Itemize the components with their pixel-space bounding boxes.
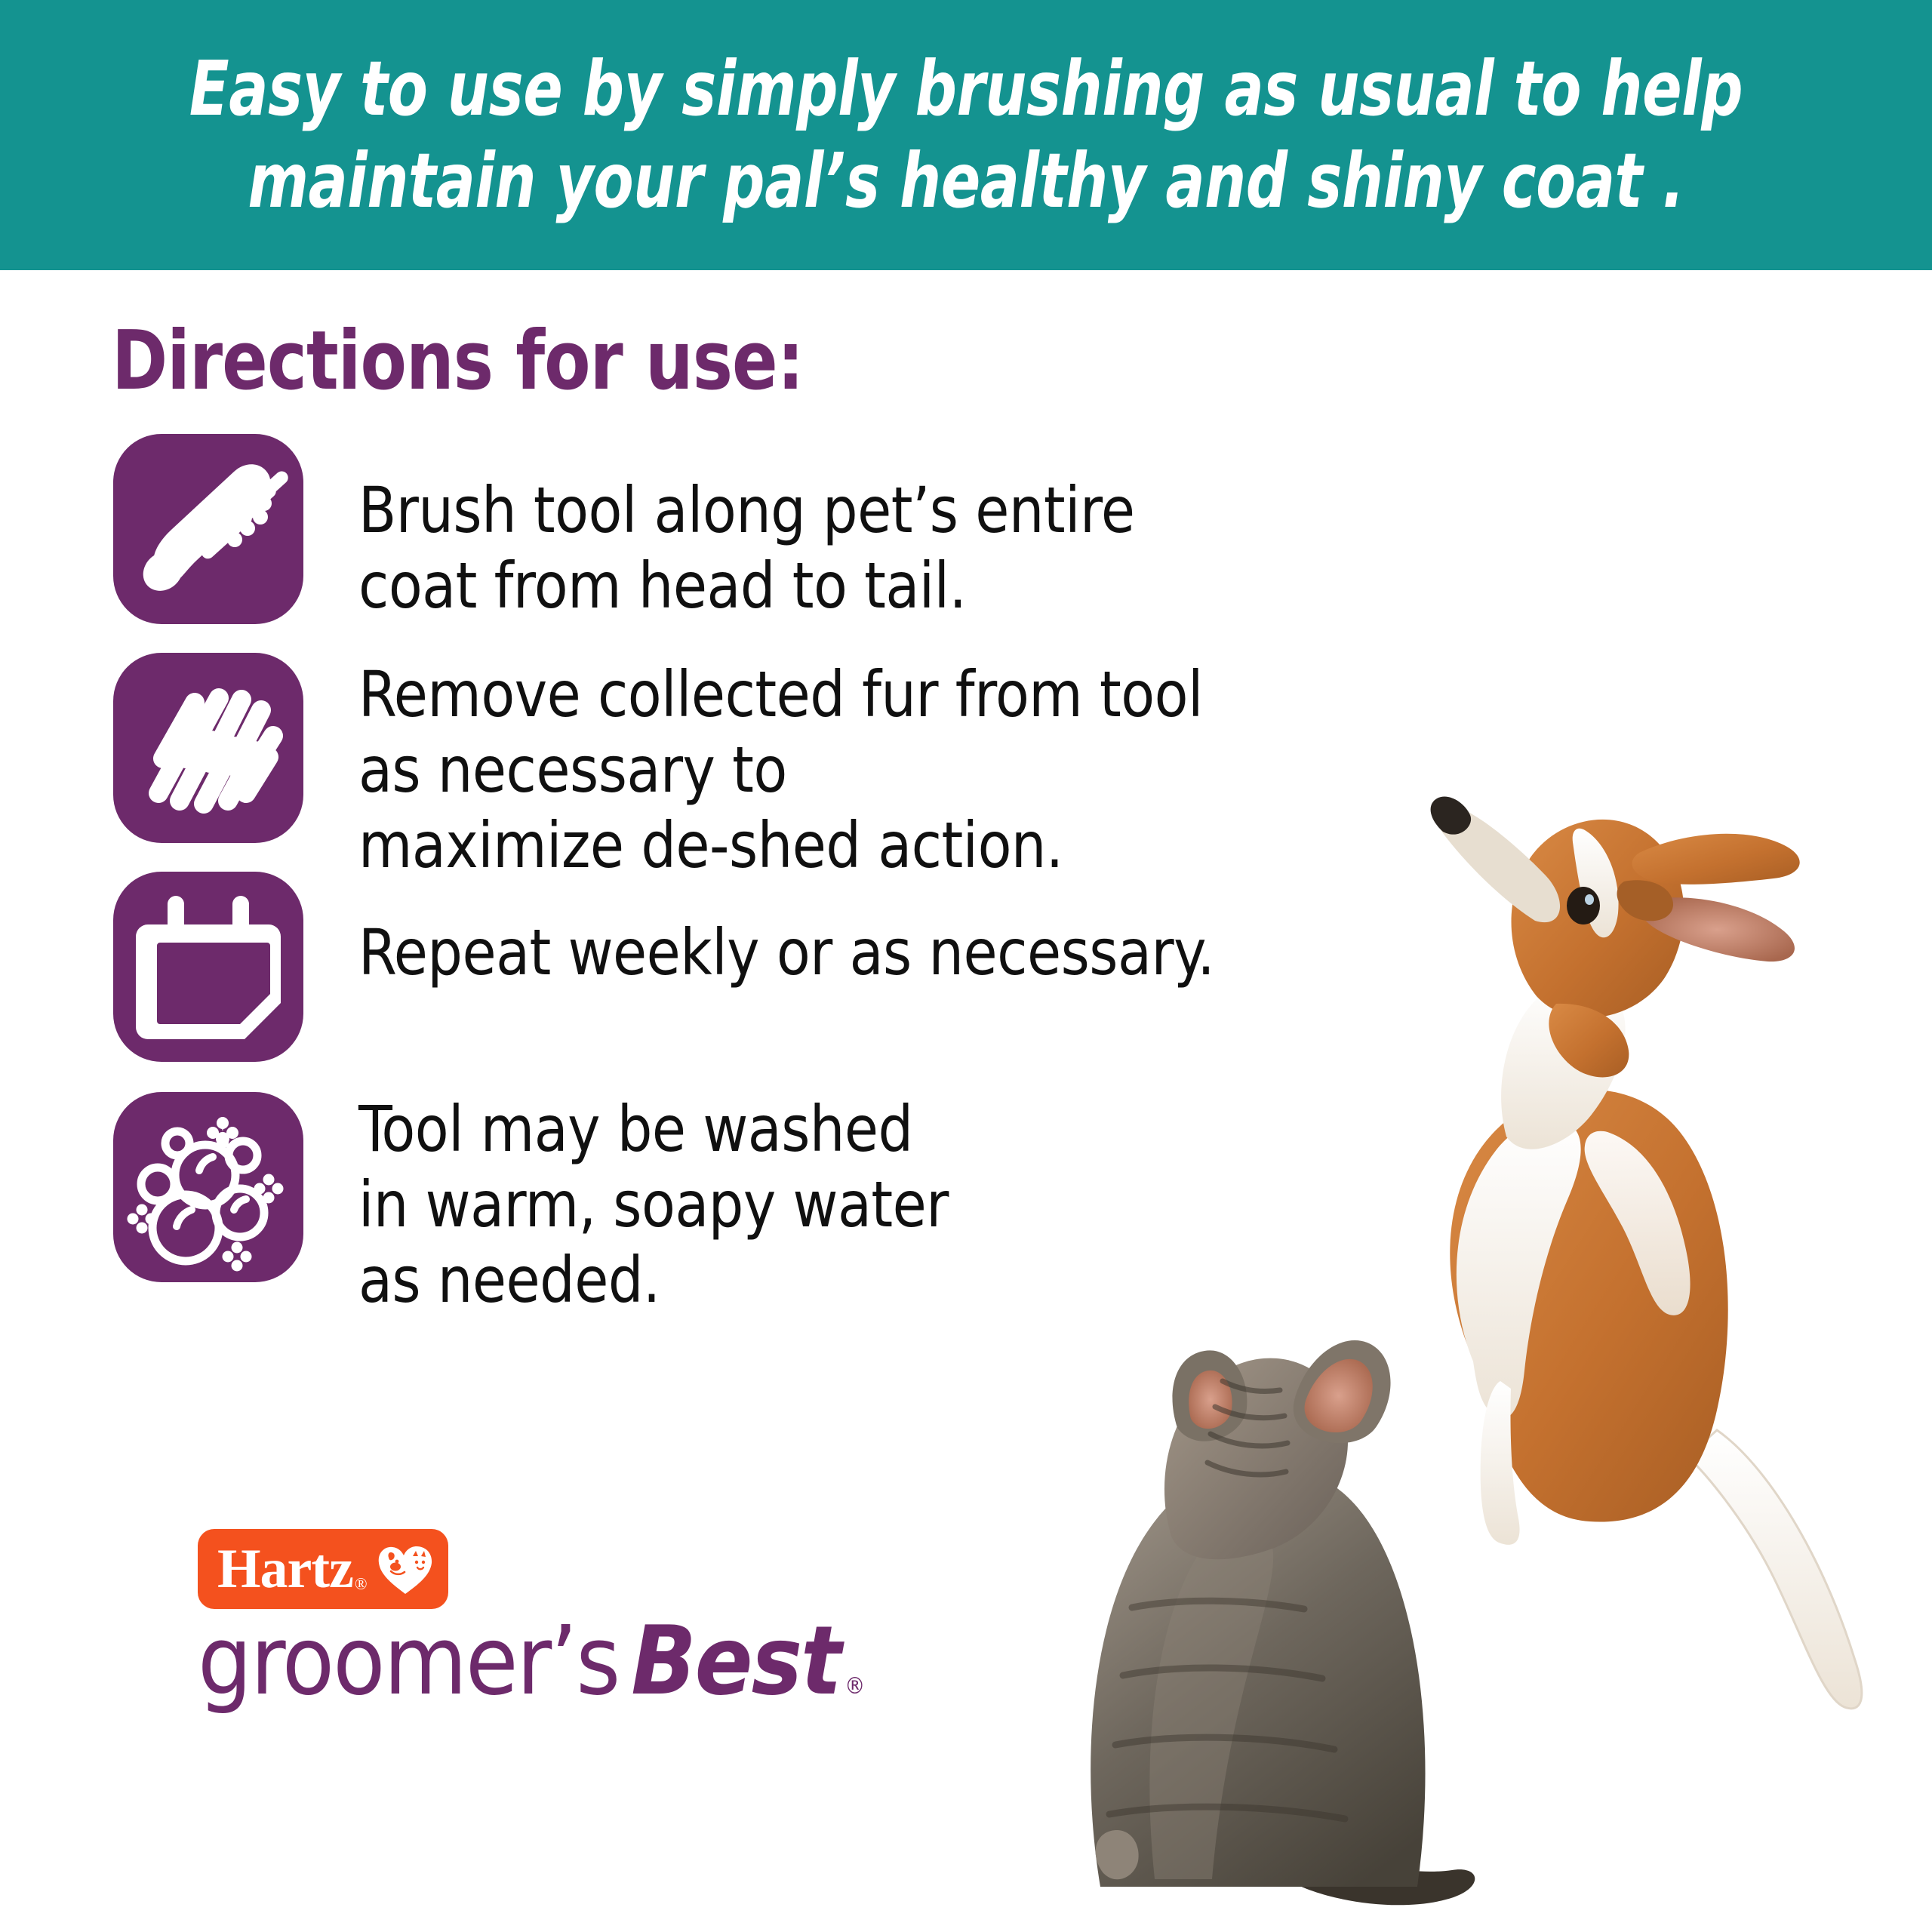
calendar-icon	[113, 872, 303, 1062]
brand-lockup: Hartz ®	[198, 1529, 865, 1709]
list-item: Repeat weekly or as necessary.	[0, 872, 1241, 1062]
dog-figure	[1431, 796, 1862, 1708]
list-item: Tool may be washed in warm, soapy water …	[0, 1092, 967, 1318]
soap-bubbles-icon	[113, 1092, 303, 1282]
page-title: Directions for use:	[112, 321, 804, 402]
list-item-label: Repeat weekly or as necessary.	[358, 872, 1214, 991]
header-headline: Easy to use by simply brushing as usual …	[148, 43, 1783, 227]
cat-figure	[1091, 1340, 1475, 1905]
list-item: Brush tool along pet’s entire coat from …	[0, 434, 1283, 624]
best-word: Best	[631, 1614, 840, 1709]
hartz-wordmark: Hartz	[217, 1541, 353, 1597]
groomers-best-wordmark: groomer’s Best ®	[198, 1614, 865, 1709]
list-item-label: Tool may be washed in warm, soapy water …	[358, 1092, 949, 1318]
list-item-label: Remove collected fur from tool as necess…	[358, 653, 1255, 884]
fur-strands-icon	[113, 653, 303, 843]
list-item: Remove collected fur from tool as necess…	[0, 653, 1283, 884]
infographic-page: Easy to use by simply brushing as usual …	[0, 0, 1932, 1932]
dog-cat-heart-icon	[376, 1541, 435, 1597]
header-banner: Easy to use by simply brushing as usual …	[0, 0, 1932, 270]
brush-icon	[113, 434, 303, 624]
hartz-logo-badge: Hartz ®	[198, 1529, 448, 1609]
groomers-word: groomer’s	[198, 1614, 619, 1709]
groomers-registered-mark: ®	[844, 1675, 865, 1698]
list-item-label: Brush tool along pet’s entire coat from …	[358, 434, 1255, 624]
hartz-registered-mark: ®	[355, 1576, 368, 1592]
